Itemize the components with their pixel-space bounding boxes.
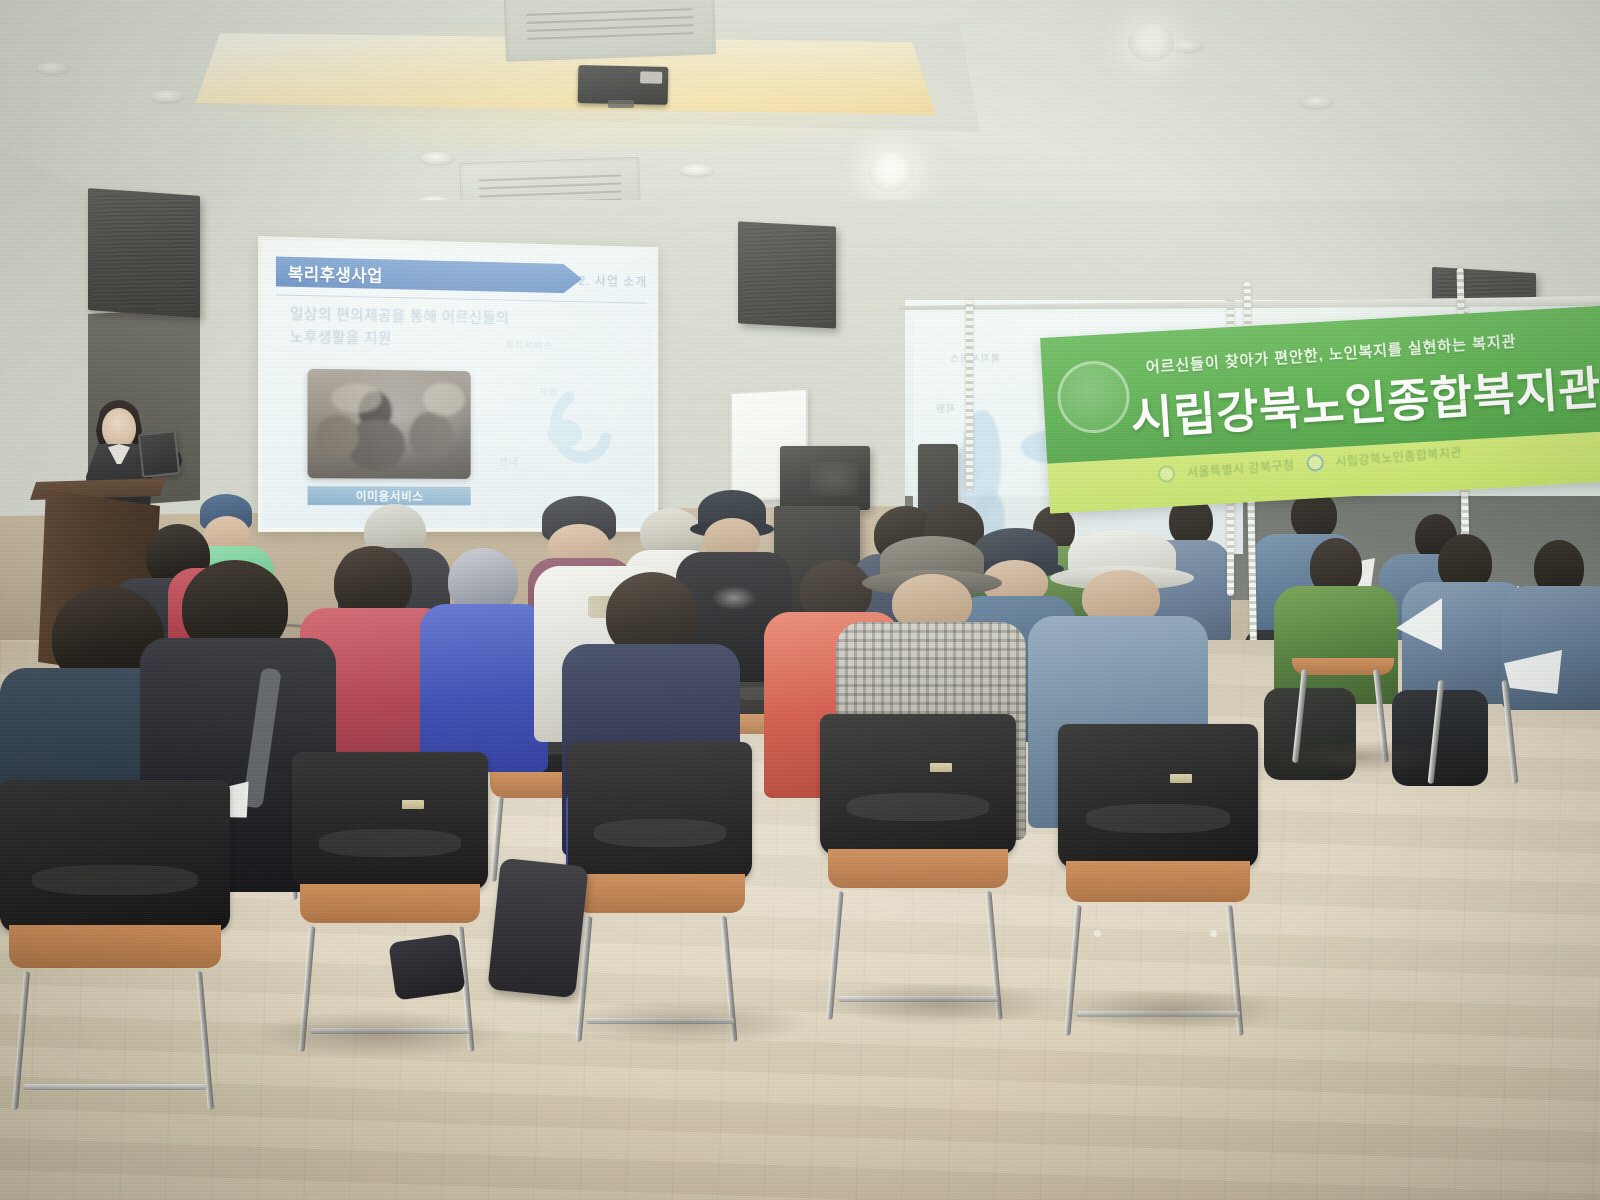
- slide-section-tag: 2. 사업 소개: [579, 270, 648, 290]
- sponsor-logo-icon: [1157, 465, 1175, 483]
- slide-photo: [308, 369, 471, 479]
- slide-caption-text: 이미용서비스: [356, 487, 424, 504]
- ceiling-spotlight: [868, 152, 914, 192]
- ceiling-downlight: [1300, 96, 1334, 108]
- ceiling-downlight: [150, 90, 184, 102]
- ceiling-projector: [578, 65, 669, 105]
- projector-lens-icon: [608, 100, 634, 108]
- slide-divider: [276, 294, 647, 303]
- ceiling-downlight: [680, 164, 714, 176]
- chair[interactable]: [1422, 664, 1528, 794]
- floor-bag: [487, 858, 588, 998]
- ceiling-downlight: [36, 62, 70, 74]
- list-item: [420, 548, 548, 758]
- ceiling-spotlight: [1128, 22, 1174, 62]
- slide-header-bar: 복리후생사업: [276, 256, 582, 293]
- event-banner: 어르신들이 찾아가 편안한, 노인복지를 실현하는 복지관 시립강북노인종합복지…: [1040, 305, 1600, 514]
- slide-photo-caption: 이미용서비스: [308, 486, 471, 505]
- ceiling-air-vent: [504, 0, 716, 62]
- ceiling-downlight: [1170, 40, 1204, 52]
- ceiling-downlight: [420, 152, 454, 164]
- sponsor-logo-icon: [1306, 454, 1324, 472]
- chair[interactable]: [292, 752, 488, 1052]
- presenter-laptop: [138, 430, 180, 478]
- chair[interactable]: [1288, 640, 1398, 770]
- slide-faint-note: 복지서비스: [505, 337, 553, 352]
- wall-speaker-center: [738, 221, 836, 328]
- pa-amplifier: [780, 446, 870, 510]
- projection-screen: 복리후생사업 2. 사업 소개 일상의 편의제공을 통해 어르신들의 노후생활을…: [258, 236, 658, 532]
- wall-speaker-left: [88, 188, 200, 318]
- chair[interactable]: [820, 714, 1016, 1020]
- chair[interactable]: [568, 742, 752, 1042]
- chair[interactable]: [0, 780, 230, 1110]
- blind-pull-cord[interactable]: [966, 300, 973, 490]
- presenter-head: [102, 408, 136, 448]
- slide-faint-note: 안내: [499, 454, 518, 469]
- slide-watermark-graphic: [530, 384, 633, 491]
- mirror-text-note: 지원: [935, 400, 955, 415]
- floor-bag: [388, 933, 465, 1000]
- slide-faint-note: 지원: [539, 384, 558, 399]
- mirror-text-note: 복지서비스: [949, 350, 1000, 365]
- projected-slide: 복리후생사업 2. 사업 소개 일상의 편의제공을 통해 어르신들의 노후생활을…: [262, 240, 655, 528]
- slide-header-text: 복리후생사업: [288, 259, 383, 286]
- meeting-room-photo: 복지서비스 지원 안내: [0, 0, 1600, 1200]
- chair[interactable]: [1058, 724, 1258, 1036]
